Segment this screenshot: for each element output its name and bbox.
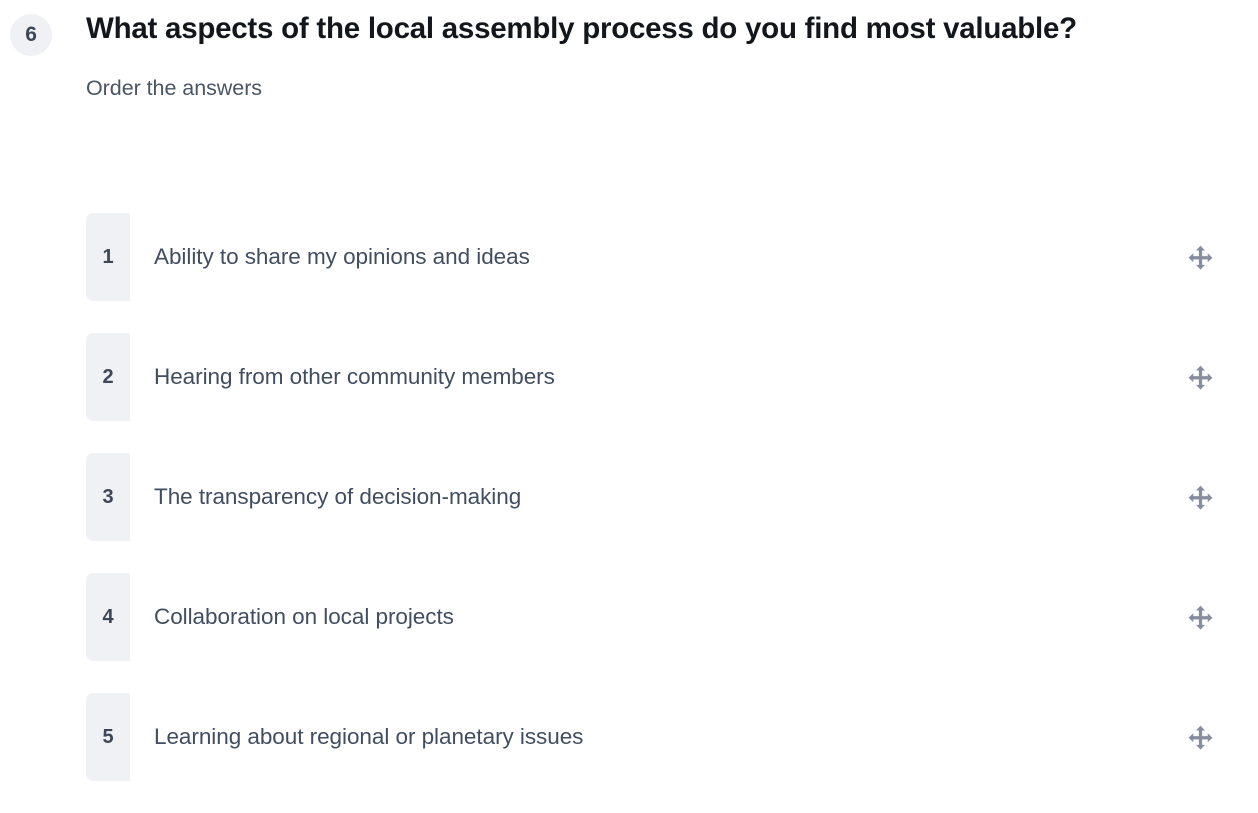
question-number-badge: 6: [10, 14, 52, 56]
answer-text: Ability to share my opinions and ideas: [154, 242, 530, 271]
answer-text: Learning about regional or planetary iss…: [154, 722, 583, 751]
answer-rank: 3: [86, 453, 130, 541]
answer-rank: 1: [86, 213, 130, 301]
answer-body[interactable]: Learning about regional or planetary iss…: [130, 693, 1237, 781]
answer-body[interactable]: Hearing from other community members: [130, 333, 1237, 421]
answer-row[interactable]: 5 Learning about regional or planetary i…: [86, 693, 1237, 781]
move-arrows-icon[interactable]: [1185, 722, 1215, 752]
answer-body[interactable]: Ability to share my opinions and ideas: [130, 213, 1237, 301]
answer-body[interactable]: Collaboration on local projects: [130, 573, 1237, 661]
answer-rank: 5: [86, 693, 130, 781]
answer-rank: 2: [86, 333, 130, 421]
move-arrows-icon[interactable]: [1185, 242, 1215, 272]
answer-row[interactable]: 4 Collaboration on local projects: [86, 573, 1237, 661]
answer-row[interactable]: 3 The transparency of decision-making: [86, 453, 1237, 541]
question-title: What aspects of the local assembly proce…: [86, 9, 1131, 50]
answer-rank: 4: [86, 573, 130, 661]
move-arrows-icon[interactable]: [1185, 602, 1215, 632]
answer-body[interactable]: The transparency of decision-making: [130, 453, 1237, 541]
answer-text: The transparency of decision-making: [154, 482, 521, 511]
question-header: 6 What aspects of the local assembly pro…: [0, 0, 1258, 101]
ranking-question-block: 6 What aspects of the local assembly pro…: [0, 0, 1258, 797]
answer-row[interactable]: 2 Hearing from other community members: [86, 333, 1237, 421]
answer-text: Hearing from other community members: [154, 362, 555, 391]
question-title-wrap: What aspects of the local assembly proce…: [86, 9, 1131, 101]
answer-text: Collaboration on local projects: [154, 602, 454, 631]
question-instruction: Order the answers: [86, 76, 1131, 101]
move-arrows-icon[interactable]: [1185, 482, 1215, 512]
move-arrows-icon[interactable]: [1185, 362, 1215, 392]
answers-ranking-list: 1 Ability to share my opinions and ideas…: [86, 213, 1237, 813]
answer-row[interactable]: 1 Ability to share my opinions and ideas: [86, 213, 1237, 301]
